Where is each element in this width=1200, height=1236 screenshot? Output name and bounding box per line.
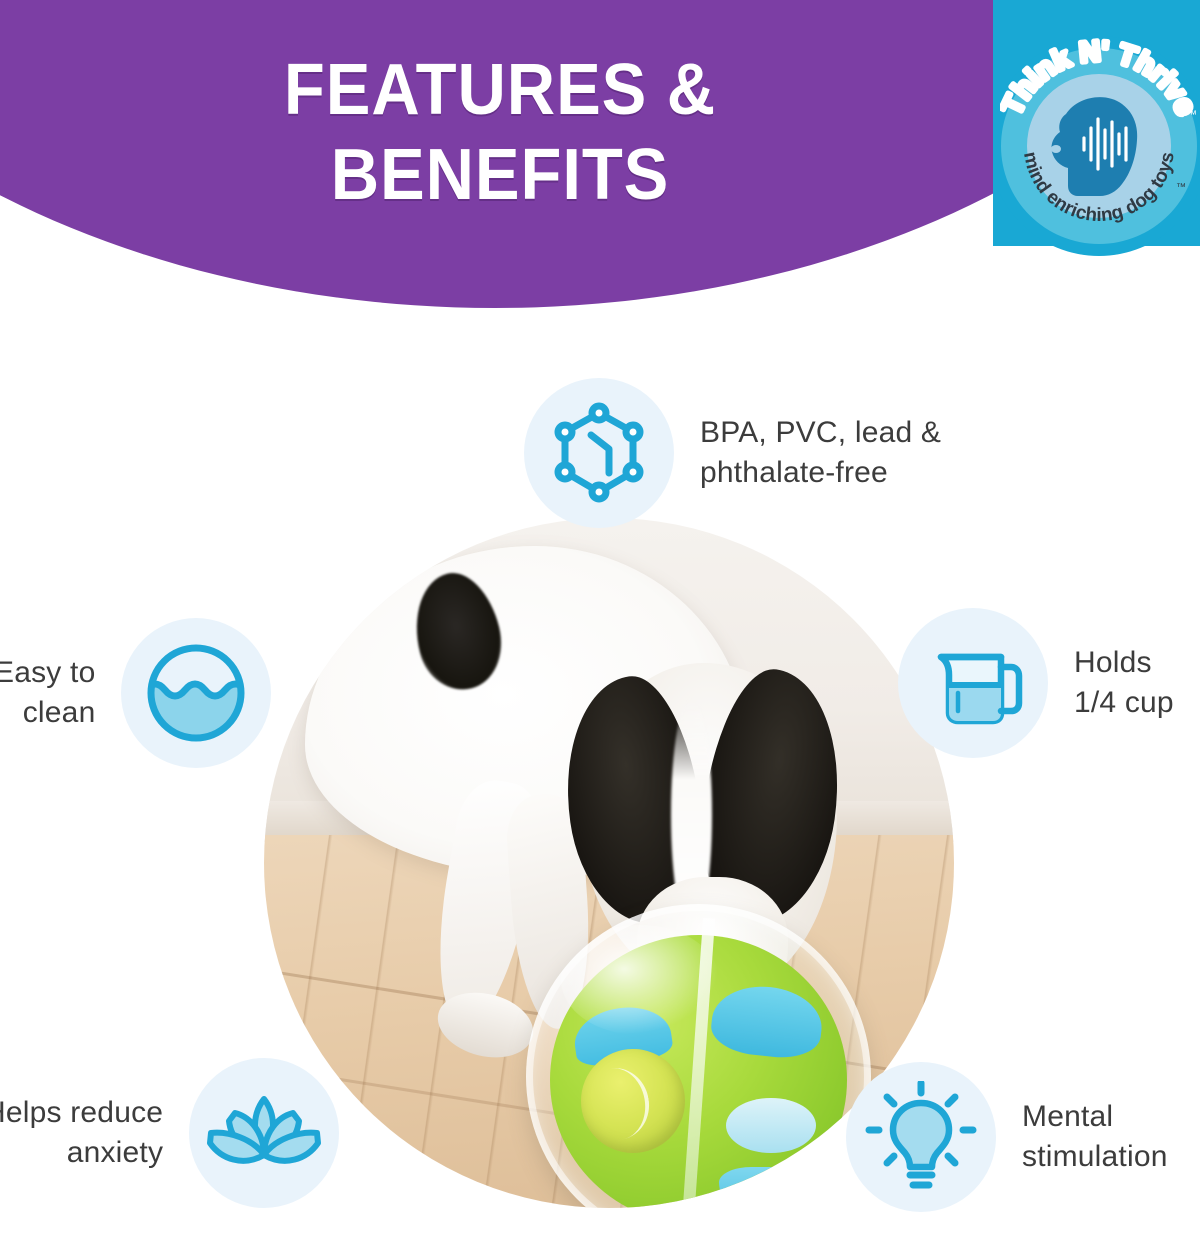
measuring-cup-icon [917,627,1029,739]
badge-trademark-top: ™ [1186,109,1197,121]
page-title-line-1: FEATURES & [35,48,965,133]
molecule-hexagon-icon [543,397,655,509]
badge-trademark-bottom: ™ [1176,182,1186,193]
feature-label-mental: Mental stimulation [1022,1097,1168,1176]
brand-badge-svg: Think N' Thrive Think N' Thrive mind enr… [1000,18,1198,266]
feature-icon-circle [898,608,1048,758]
feature-icon-circle [524,378,674,528]
page-title: FEATURES & BENEFITS [35,48,965,218]
page-title-line-2: BENEFITS [35,133,965,218]
feature-item-holds[interactable]: Holds 1/4 cup [898,608,1174,758]
brand-badge: Think N' Thrive Think N' Thrive mind enr… [1000,18,1198,266]
feature-item-anxiety[interactable]: Helps reduce anxiety [0,1058,339,1208]
infographic-canvas: FEATURES & BENEFITS [0,0,1200,1236]
feature-label-easy-clean: Easy to clean [0,653,95,732]
feature-label-anxiety: Helps reduce anxiety [0,1093,163,1172]
feature-icon-circle [189,1058,339,1208]
feature-label-holds: Holds 1/4 cup [1074,643,1174,722]
feature-item-bpa[interactable]: BPA, PVC, lead & phthalate-free [524,378,941,528]
feature-item-mental[interactable]: Mental stimulation [846,1062,1168,1212]
feature-item-easy-clean[interactable]: Easy to clean [0,618,271,768]
feature-icon-circle [121,618,271,768]
feature-icon-circle [846,1062,996,1212]
lotus-flower-icon [205,1083,323,1183]
lightbulb-icon [865,1081,977,1193]
water-waves-circle-icon [141,638,251,748]
feature-label-bpa: BPA, PVC, lead & phthalate-free [700,413,941,492]
